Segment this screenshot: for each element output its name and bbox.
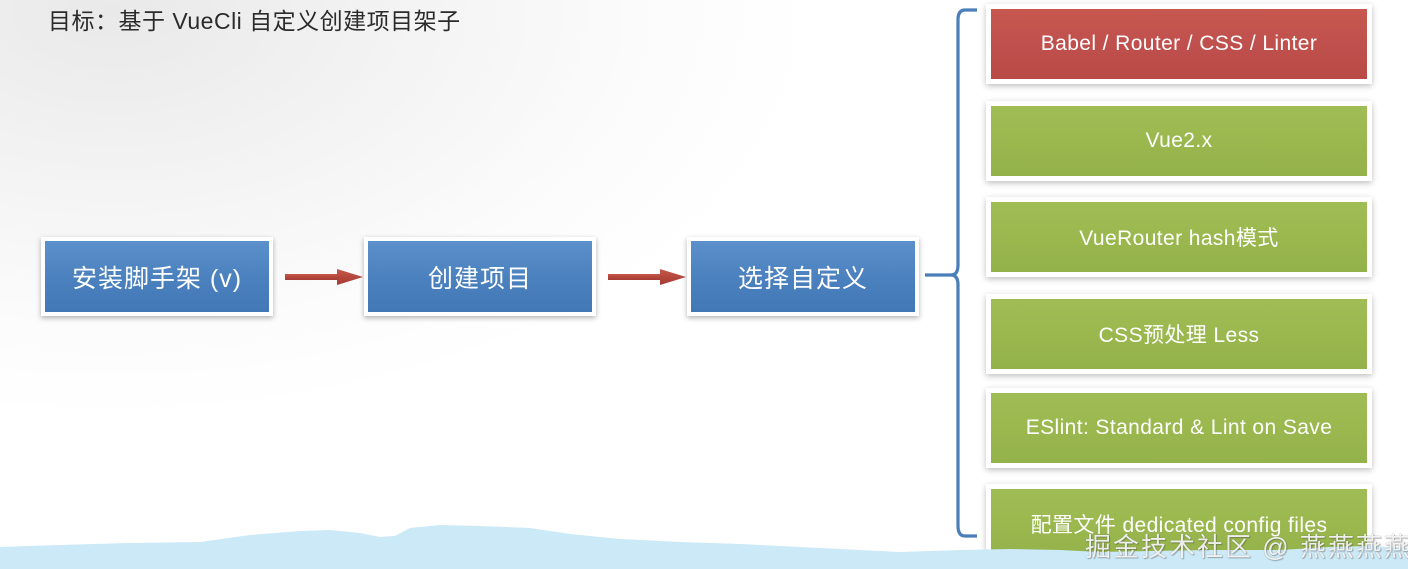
option-item-vuerouter-hash: VueRouter hash模式 <box>986 197 1372 277</box>
arrow-step2-to-step3 <box>608 268 686 286</box>
flow-step-label: 安装脚手架 (v) <box>72 259 242 295</box>
option-item-css-preprocessor-less: CSS预处理 Less <box>986 294 1372 374</box>
option-item-babel-router-css-linter: Babel / Router / CSS / Linter <box>986 4 1372 84</box>
option-item-eslint-standard: ESlint: Standard & Lint on Save <box>986 388 1372 468</box>
option-item-label: CSS预处理 Less <box>1099 319 1260 349</box>
option-item-label: Vue2.x <box>1146 129 1213 153</box>
flow-step-label: 选择自定义 <box>738 259 868 295</box>
option-item-label: Babel / Router / CSS / Linter <box>1041 32 1318 56</box>
option-item-vue2x: Vue2.x <box>986 101 1372 181</box>
page-title: 目标：基于 VueCli 自定义创建项目架子 <box>48 2 461 36</box>
option-item-label: ESlint: Standard & Lint on Save <box>1026 416 1333 440</box>
brace-connector <box>925 0 977 545</box>
flow-step-create-project: 创建项目 <box>364 237 596 316</box>
flow-step-select-custom: 选择自定义 <box>687 237 919 316</box>
slide-canvas: 目标：基于 VueCli 自定义创建项目架子 安装脚手架 (v) 创建项目 <box>0 0 1408 569</box>
flow-step-label: 创建项目 <box>428 259 532 295</box>
watermark-text: 掘金技术社区 @ 燕燕燕燕燕 <box>1085 527 1408 564</box>
flow-step-install: 安装脚手架 (v) <box>41 237 273 316</box>
arrow-step1-to-step2 <box>285 268 363 286</box>
option-item-label: VueRouter hash模式 <box>1079 222 1278 252</box>
